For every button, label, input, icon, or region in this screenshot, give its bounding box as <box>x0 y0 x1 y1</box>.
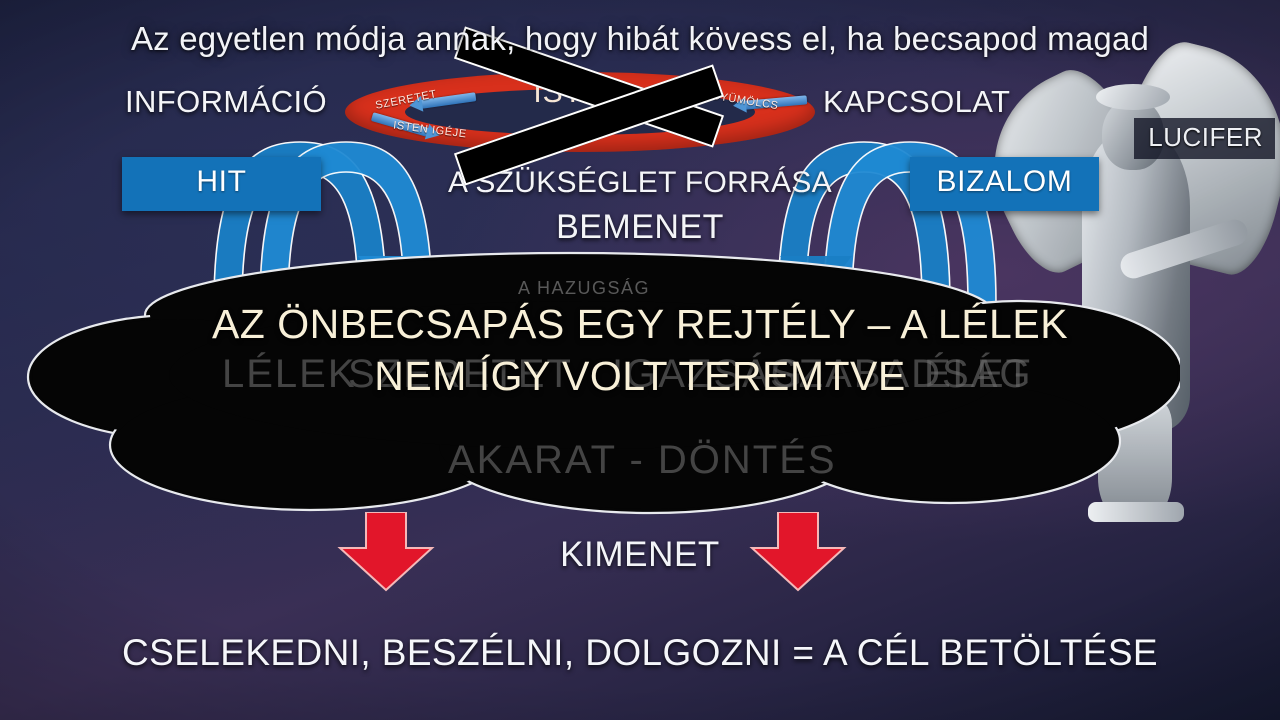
bottom-statement: CSELEKEDNI, BESZÉLNI, DOLGOZNI = A CÉL B… <box>0 632 1280 674</box>
slide-headline: Az egyetlen módja annak, hogy hibát köve… <box>0 20 1280 58</box>
cloud-word-akarat-dontes: AKARAT - DÖNTÉS <box>448 438 837 483</box>
label-kapcsolat: KAPCSOLAT <box>823 84 1010 120</box>
label-informacio: INFORMÁCIÓ <box>125 84 327 120</box>
main-statement-line-2: NEM ÍGY VOLT TEREMTVE <box>0 350 1280 402</box>
lucifer-label: LUCIFER <box>1134 118 1275 159</box>
slide-canvas: LUCIFER Az egyetlen módja annak, hogy hi… <box>0 0 1280 720</box>
label-kimenet: KIMENET <box>0 535 1280 575</box>
statue-crown <box>1096 84 1170 110</box>
label-box-hit: HIT <box>122 157 321 211</box>
cloud-word-hazugsag: A HAZUGSÁG <box>518 278 650 299</box>
label-box-bizalom: BIZALOM <box>910 157 1099 211</box>
main-statement-line-1: AZ ÖNBECSAPÁS EGY REJTÉLY – A LÉLEK <box>0 298 1280 350</box>
label-bemenet: BEMENET <box>0 208 1280 247</box>
main-statement: AZ ÖNBECSAPÁS EGY REJTÉLY – A LÉLEK NEM … <box>0 298 1280 402</box>
